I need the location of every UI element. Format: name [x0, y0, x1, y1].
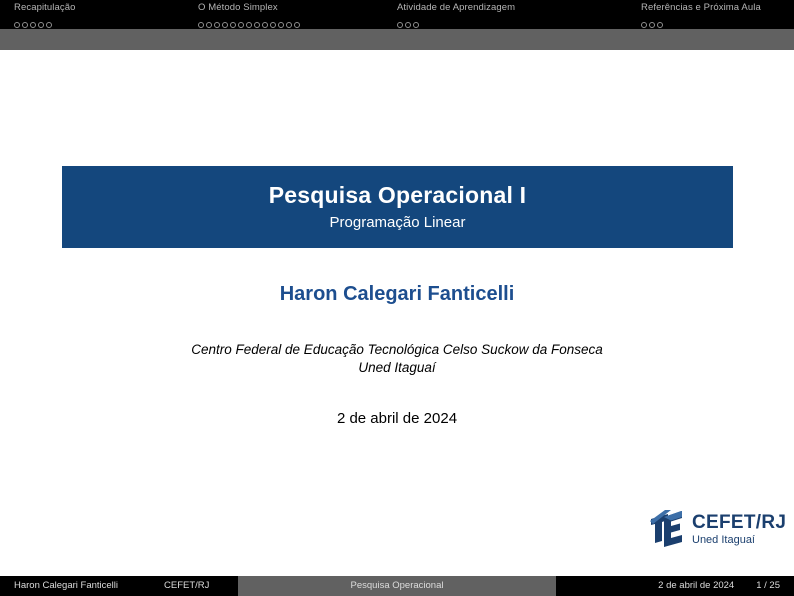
- nav-dot[interactable]: [14, 22, 20, 28]
- cefet-logo-text: CEFET/RJ Uned Itaguaí: [692, 512, 786, 547]
- page-subtitle: Programação Linear: [330, 213, 466, 233]
- navigation-underbar: [0, 29, 794, 50]
- footer-bar: Haron Calegari Fanticelli CEFET/RJ Pesqu…: [0, 576, 794, 596]
- nav-section-label: Atividade de Aprendizagem: [397, 0, 515, 14]
- institute-line-1: Centro Federal de Educação Tecnológica C…: [191, 342, 603, 357]
- nav-dot[interactable]: [657, 22, 663, 28]
- nav-section-dots[interactable]: [14, 16, 76, 26]
- nav-section-label: O Método Simplex: [198, 0, 302, 14]
- nav-dot[interactable]: [262, 22, 268, 28]
- navigation-bar: Recapitulação O Método Simplex Atividade…: [0, 0, 794, 29]
- nav-section-atividade-de-aprendizagem[interactable]: Atividade de Aprendizagem: [397, 0, 515, 29]
- footer-author: Haron Calegari Fanticelli: [14, 580, 118, 592]
- institute-line-2: Uned Itaguaí: [0, 359, 794, 377]
- author-name: Haron Calegari Fanticelli: [0, 281, 794, 307]
- nav-dot[interactable]: [22, 22, 28, 28]
- footer-title-segment: Pesquisa Operacional: [238, 576, 556, 596]
- nav-section-dots[interactable]: [198, 16, 302, 26]
- nav-dot[interactable]: [214, 22, 220, 28]
- title-block: Pesquisa Operacional I Programação Linea…: [62, 166, 733, 248]
- nav-dot[interactable]: [254, 22, 260, 28]
- cefet-logo-title: CEFET/RJ: [692, 512, 786, 533]
- nav-section-dots[interactable]: [397, 16, 515, 26]
- nav-dot[interactable]: [270, 22, 276, 28]
- nav-dot[interactable]: [230, 22, 236, 28]
- nav-dot[interactable]: [286, 22, 292, 28]
- cefet-logo-subtitle: Uned Itaguaí: [692, 534, 786, 547]
- footer-author-segment: Haron Calegari Fanticelli CEFET/RJ: [0, 576, 238, 596]
- nav-dot[interactable]: [278, 22, 284, 28]
- nav-dot[interactable]: [405, 22, 411, 28]
- nav-dot[interactable]: [206, 22, 212, 28]
- footer-page-number: 1 / 25: [756, 580, 780, 592]
- footer-title: Pesquisa Operacional: [351, 580, 444, 592]
- cefet-monogram-icon: [648, 508, 688, 550]
- nav-dot[interactable]: [222, 22, 228, 28]
- footer-institute: CEFET/RJ: [164, 580, 209, 592]
- nav-dot[interactable]: [413, 22, 419, 28]
- nav-section-metodo-simplex[interactable]: O Método Simplex: [198, 0, 302, 29]
- nav-dot[interactable]: [649, 22, 655, 28]
- nav-dot[interactable]: [397, 22, 403, 28]
- slide: Recapitulação O Método Simplex Atividade…: [0, 0, 794, 596]
- nav-dot[interactable]: [238, 22, 244, 28]
- page-title: Pesquisa Operacional I: [269, 181, 527, 209]
- nav-section-dots[interactable]: [641, 16, 761, 26]
- nav-dot[interactable]: [294, 22, 300, 28]
- nav-section-referencias-e-proxima-aula[interactable]: Referências e Próxima Aula: [641, 0, 761, 29]
- institute: Centro Federal de Educação Tecnológica C…: [0, 341, 794, 377]
- nav-section-recapitulacao[interactable]: Recapitulação: [14, 0, 76, 29]
- nav-dot[interactable]: [30, 22, 36, 28]
- nav-section-label: Referências e Próxima Aula: [641, 0, 761, 14]
- footer-date: 2 de abril de 2024: [658, 580, 734, 592]
- nav-dot[interactable]: [198, 22, 204, 28]
- cefet-logo: CEFET/RJ Uned Itaguaí: [648, 505, 784, 553]
- nav-dot[interactable]: [46, 22, 52, 28]
- nav-section-label: Recapitulação: [14, 0, 76, 14]
- presentation-date: 2 de abril de 2024: [0, 409, 794, 429]
- nav-dot[interactable]: [246, 22, 252, 28]
- nav-dot[interactable]: [641, 22, 647, 28]
- footer-meta-segment: 2 de abril de 2024 1 / 25: [556, 576, 794, 596]
- nav-dot[interactable]: [38, 22, 44, 28]
